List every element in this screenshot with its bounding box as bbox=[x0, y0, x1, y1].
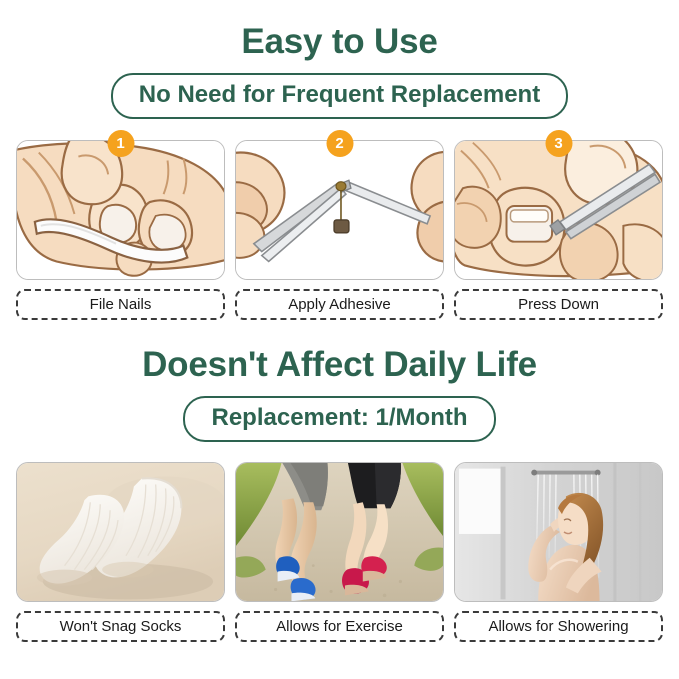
section-1-subtitle-pill: No Need for Frequent Replacement bbox=[111, 73, 568, 119]
life-panel-2: Allows for Exercise bbox=[235, 462, 444, 642]
step-panel-1: 1 File Nails bbox=[16, 140, 225, 320]
section-daily-life: Doesn't Affect Daily Life Replacement: 1… bbox=[0, 320, 679, 642]
step-panel-2: 2 Apply Adhesive bbox=[235, 140, 444, 320]
step-3-number-badge: 3 bbox=[545, 130, 572, 157]
section-2-subtitle-pill: Replacement: 1/Month bbox=[183, 396, 495, 442]
step-1-number-badge: 1 bbox=[107, 130, 134, 157]
white-socks-photo bbox=[17, 463, 224, 601]
shower-photo bbox=[454, 462, 663, 602]
life-2-caption: Allows for Exercise bbox=[235, 611, 444, 642]
life-1-caption: Won't Snag Socks bbox=[16, 611, 225, 642]
life-panel-1: Won't Snag Socks bbox=[16, 462, 225, 642]
section-2-heading: Doesn't Affect Daily Life bbox=[0, 347, 679, 382]
step-3-illustration bbox=[454, 140, 663, 280]
step-panel-3: 3 Press Down bbox=[454, 140, 663, 320]
step-3-caption: Press Down bbox=[454, 289, 663, 320]
press-patch-illustration bbox=[455, 141, 662, 279]
section-easy-to-use: Easy to Use No Need for Frequent Replace… bbox=[0, 0, 679, 320]
step-1-illustration bbox=[16, 140, 225, 280]
step-2-illustration bbox=[235, 140, 444, 280]
socks-photo bbox=[16, 462, 225, 602]
life-3-caption: Allows for Showering bbox=[454, 611, 663, 642]
step-2-number-badge: 2 bbox=[326, 130, 353, 157]
infographic-page: Easy to Use No Need for Frequent Replace… bbox=[0, 0, 679, 679]
woman-showering-photo bbox=[455, 463, 662, 601]
tweezers-adhesive-illustration bbox=[236, 141, 443, 279]
life-panel-3: Allows for Showering bbox=[454, 462, 663, 642]
exercise-photo bbox=[235, 462, 444, 602]
step-1-caption: File Nails bbox=[16, 289, 225, 320]
section-1-heading: Easy to Use bbox=[0, 24, 679, 59]
step-2-caption: Apply Adhesive bbox=[235, 289, 444, 320]
filing-nail-illustration bbox=[17, 141, 224, 279]
joggers-on-path-photo bbox=[236, 463, 443, 601]
